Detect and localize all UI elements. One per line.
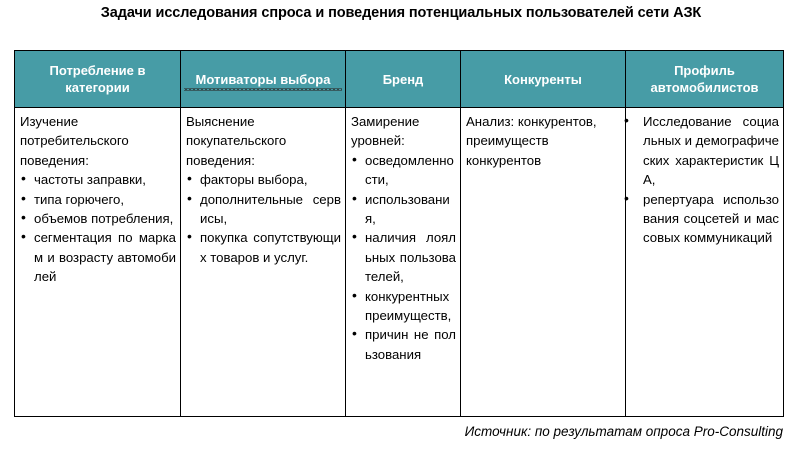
cell-lead-text: Замирение уровней: <box>351 112 456 151</box>
column-header-brand: Бренд <box>346 51 461 108</box>
column-header-label: Профиль автомобилистов <box>629 62 780 96</box>
bullet-item: Исследование социальных и демографически… <box>631 112 779 190</box>
bullet-item: осведомленности, <box>351 151 456 190</box>
bullet-item: дополнительные сервисы, <box>186 190 341 229</box>
cell-competitors: Анализ: конкурентов, преимуществ конкуре… <box>461 108 626 417</box>
bullet-item: использования, <box>351 190 456 229</box>
bullet-item: частоты заправки, <box>20 170 176 189</box>
cell-brand: Замирение уровней: осведомленности,испол… <box>346 108 461 417</box>
cell-bullet-list: факторы выбора,дополнительные сервисы,по… <box>186 170 341 267</box>
column-header-label: Конкуренты <box>464 71 622 88</box>
bullet-item: конкурентных преимуществ, <box>351 287 456 326</box>
bullet-item: факторы выбора, <box>186 170 341 189</box>
column-header-competitors: Конкуренты <box>461 51 626 108</box>
cell-driver-profile: Исследование социальных и демографически… <box>626 108 784 417</box>
column-header-motivators: Мотиваторы выбора <box>181 51 346 108</box>
column-header-label: Бренд <box>349 71 457 88</box>
bullet-item: репертуара использования соцсетей и масс… <box>631 190 779 248</box>
table-row: Изучение потребительского поведения: час… <box>15 108 784 417</box>
cell-bullet-list: частоты заправки,типа горючего,объемов п… <box>20 170 176 286</box>
bullet-item: причин не пользования <box>351 325 456 364</box>
cell-lead-text: Анализ: конкурентов, преимуществ конкуре… <box>466 112 621 170</box>
bullet-item: покупка сопутствующих товаров и услуг. <box>186 228 341 267</box>
source-note: Источник: по результатам опроса Pro-Cons… <box>465 424 783 439</box>
bullet-item: сегментация по маркам и возрасту автомоб… <box>20 228 176 286</box>
table-body: Изучение потребительского поведения: час… <box>15 108 784 417</box>
cell-bullet-list: Исследование социальных и демографически… <box>631 112 779 248</box>
matrix-table-container: Потребление в категории Мотиваторы выбор… <box>14 50 783 417</box>
bullet-item: наличия лояльных пользователей, <box>351 228 456 286</box>
column-header-driver-profile: Профиль автомобилистов <box>626 51 784 108</box>
cell-consumption: Изучение потребительского поведения: час… <box>15 108 181 417</box>
cell-lead-text: Выяснение покупательского поведения: <box>186 112 341 170</box>
column-header-label: Мотиваторы выбора <box>184 71 342 88</box>
cell-bullet-list: осведомленности,использования,наличия ло… <box>351 151 456 364</box>
column-header-label: Потребление в категории <box>18 62 177 96</box>
bullet-item: типа горючего, <box>20 190 176 209</box>
cell-lead-text: Изучение потребительского поведения: <box>20 112 176 170</box>
bullet-item: объемов потребления, <box>20 209 176 228</box>
research-tasks-table: Потребление в категории Мотиваторы выбор… <box>14 50 784 417</box>
table-header-row: Потребление в категории Мотиваторы выбор… <box>15 51 784 108</box>
slide-canvas: Задачи исследования спроса и поведения п… <box>0 0 797 453</box>
column-header-consumption: Потребление в категории <box>15 51 181 108</box>
cell-motivators: Выяснение покупательского поведения: фак… <box>181 108 346 417</box>
page-title: Задачи исследования спроса и поведения п… <box>36 3 766 24</box>
